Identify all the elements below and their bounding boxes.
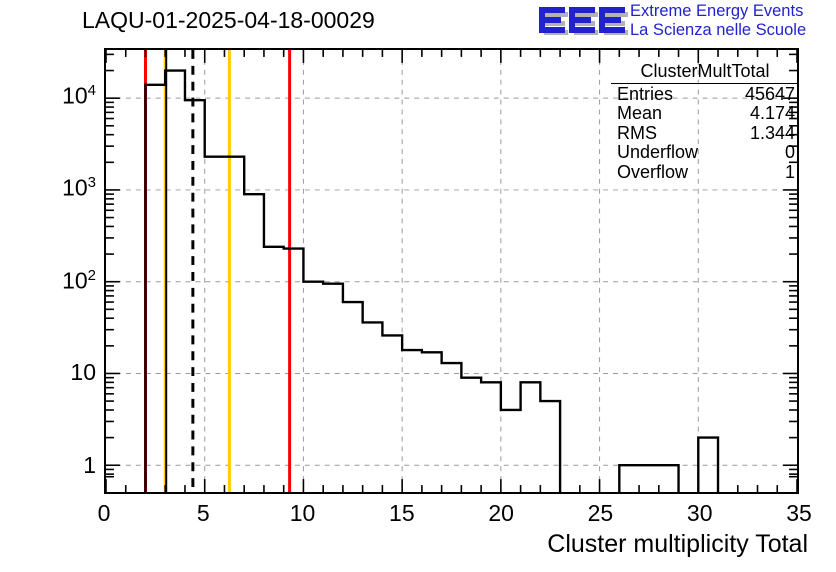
stats-rows: Entries45647Mean4.174RMS1.344Underflow0O…: [611, 85, 799, 183]
stats-value: 1: [785, 163, 795, 183]
stats-row: RMS1.344: [611, 124, 799, 144]
stats-value: 0: [785, 143, 795, 163]
x-tick-label-2: 10: [273, 500, 333, 527]
stats-key: Overflow: [617, 163, 688, 183]
eee-logo: Extreme Energy Events La Scienza nelle S…: [538, 2, 834, 44]
x-tick-label-0: 0: [74, 500, 134, 527]
x-tick-label-7: 35: [769, 500, 829, 527]
y-tick-label-1: 10: [70, 359, 96, 386]
stats-key: Mean: [617, 104, 662, 124]
logo-line-2: La Scienza nelle Scuole: [630, 21, 835, 40]
x-tick-label-4: 20: [471, 500, 531, 527]
stats-key: Underflow: [617, 143, 698, 163]
stats-row: Overflow1: [611, 163, 799, 183]
x-axis-title: Cluster multiplicity Total: [547, 530, 808, 559]
eee-logo-text: Extreme Energy Events La Scienza nelle S…: [630, 2, 835, 40]
page-title: LAQU-01-2025-04-18-00029: [82, 7, 375, 34]
x-tick-label-3: 15: [372, 500, 432, 527]
stats-row: Mean4.174: [611, 104, 799, 124]
stats-box: ClusterMultTotal Entries45647Mean4.174RM…: [611, 62, 799, 205]
logo-line-1: Extreme Energy Events: [630, 2, 835, 21]
stats-row: Underflow0: [611, 143, 799, 163]
stats-value: 4.174: [750, 104, 795, 124]
x-tick-label-1: 5: [173, 500, 233, 527]
stats-value: 45647: [745, 85, 795, 105]
y-tick-label-4: 104: [62, 82, 96, 110]
x-tick-label-5: 25: [570, 500, 630, 527]
stats-key: RMS: [617, 124, 657, 144]
stats-row: Entries45647: [611, 85, 799, 105]
stats-title: ClusterMultTotal: [611, 62, 799, 84]
stats-key: Entries: [617, 85, 673, 105]
y-tick-label-3: 103: [62, 174, 96, 202]
stats-value: 1.344: [750, 124, 795, 144]
y-tick-label-0: 1: [83, 452, 96, 479]
y-tick-label-2: 102: [62, 267, 96, 295]
eee-logo-mark-icon: [538, 3, 628, 41]
x-tick-label-6: 30: [670, 500, 730, 527]
